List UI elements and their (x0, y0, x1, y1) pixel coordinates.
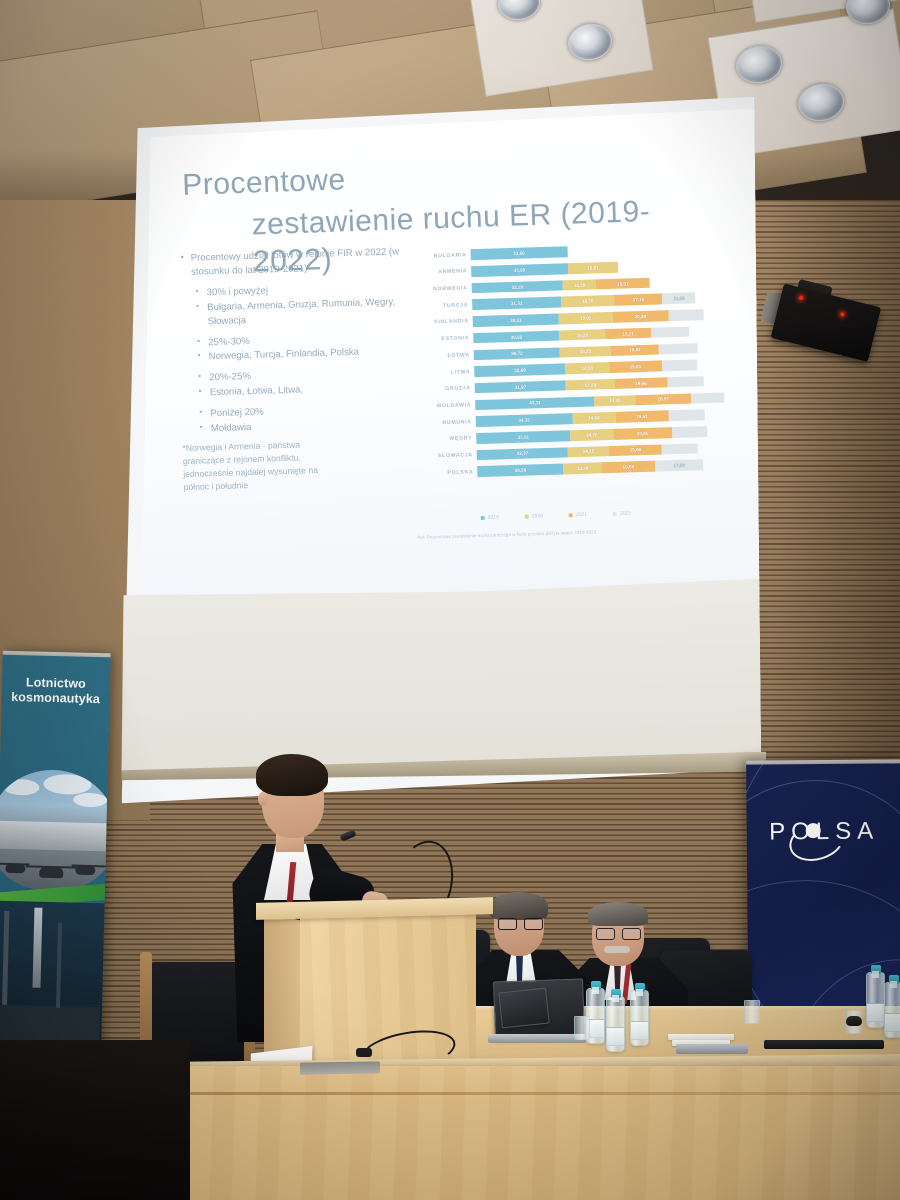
chart-bar-segment: 32,37 (477, 447, 569, 460)
chart-row-label: ESTONIA (415, 335, 473, 343)
chart-legend-swatch (569, 513, 573, 517)
drinking-glass (744, 1000, 760, 1024)
laptop-base (488, 1034, 586, 1043)
chart-row-label: POLSKA (419, 469, 477, 477)
chart-row-label: FINLANDIA (415, 319, 473, 327)
stacked-bar-chart: BUŁGARIA33,60ARMENIA33,5018,51NORWEGIA32… (412, 239, 733, 548)
chart-legend-label: 2021 (576, 512, 587, 518)
chart-bar-segment: 19,61 (609, 361, 663, 373)
chart-row-label: TURCJA (414, 302, 472, 310)
chart-row-label: BUŁGARIA (413, 252, 471, 260)
chart-bar-segment (651, 326, 689, 338)
chart-rows: BUŁGARIA33,60ARMENIA33,5018,51NORWEGIA32… (412, 239, 731, 482)
chart-legend-item: 2022 (613, 510, 631, 517)
chart-bar-segment: 19,66 (609, 444, 663, 456)
chart-bar-segment (659, 343, 697, 355)
chart-row-label: ARMENIA (413, 269, 471, 277)
chart-bar-segment: 20,57 (635, 393, 691, 405)
chart-bar-segment: 34,32 (476, 413, 573, 427)
chart-legend-swatch (613, 512, 617, 516)
chart-bar-segment: 17,60 (655, 460, 704, 472)
bullet-countries: Bułgaria, Armenia, Gruzja, Rumunia, Węgr… (196, 295, 406, 329)
banner-photo-airport (0, 768, 111, 891)
chart-bar-segment: 31,31 (472, 297, 561, 310)
presenter-ear (258, 792, 268, 806)
presenter-hair (256, 754, 328, 796)
chart-bar-segment (672, 426, 708, 438)
panelist-left-hair (490, 892, 548, 920)
chart-bar-segment (662, 443, 698, 455)
banner-photo-launchpad (0, 900, 111, 1053)
chart-bar-segment: 19,61 (615, 410, 669, 422)
panelist-right-hair (588, 902, 648, 926)
slide-bullet-list: Procentowy udział lotów w rejonie FIR w … (178, 245, 409, 437)
desk-cable-port (300, 1061, 380, 1074)
chart-legend-item: 2020 (525, 513, 543, 520)
water-bottle (606, 996, 625, 1052)
water-bottle (884, 982, 900, 1038)
chart-legend-label: 2020 (532, 513, 543, 519)
chart-bar-segment: 17,15 (614, 294, 663, 306)
chart-bar-segment: 43,11 (475, 396, 595, 410)
chart-bar-segment: 18,25 (560, 345, 611, 357)
chart-bar-segment: 18,91 (596, 278, 650, 290)
chart-bar-segment: 33,50 (471, 263, 568, 277)
chart-legend-item: 2019 (481, 514, 499, 521)
chart-bar-segment: 19,58 (602, 461, 656, 473)
chart-bar-segment: 30,58 (477, 464, 564, 477)
chart-bar-segment: 15,71 (605, 328, 651, 340)
chart-row-label: GRUZJA (417, 385, 475, 393)
chart-bar-segment: 20,81 (613, 427, 672, 439)
chart-bar-segment: 13,26 (563, 463, 601, 475)
chart-bar-segment: 30,72 (474, 347, 561, 360)
chart-row-label: RUMUNIA (418, 419, 476, 427)
water-bottle (866, 972, 885, 1028)
chart-bar-segment: 11,00 (662, 293, 695, 305)
chart-legend-swatch (525, 515, 529, 519)
panelist-right-moustache (604, 946, 630, 953)
chart-bar-segment: 30,59 (473, 330, 560, 343)
slide-footnote: *Norwegia i Armenia - państwa graniczące… (182, 437, 344, 493)
chart-bar-segment: 19,02 (559, 312, 613, 324)
laptop-base (676, 1044, 748, 1054)
chart-bar-segment: 18,76 (561, 295, 615, 307)
chart-bar-segment (668, 309, 704, 321)
chart-bar-segment: 14,06 (594, 395, 635, 407)
chart-bar-segment: 32,69 (474, 364, 566, 377)
chart-row-label: NORWEGIA (414, 285, 472, 293)
chart-caption: Ryt. Procentowe zestawienie ruchu lotnic… (417, 525, 727, 540)
chart-bar-segment: 18,51 (568, 262, 619, 274)
chart-bar-segment: 14,70 (570, 429, 613, 441)
chart-bar-segment: 20,38 (612, 310, 668, 322)
panelist-right-glasses-icon (596, 928, 640, 938)
chart-legend-item: 2021 (569, 512, 587, 519)
microphone-head (339, 829, 356, 841)
chart-bar-segment (668, 376, 704, 388)
chart-row-label: MOŁDAWIA (417, 402, 475, 410)
chart-legend-label: 2019 (488, 514, 499, 520)
chart-bar-segment: 31,97 (475, 380, 567, 393)
chart-bar-segment: 14,15 (568, 446, 609, 458)
chart-bar-segment: 10,28 (563, 279, 596, 291)
slide-content: Procentowe zestawienie ruchu ER (2019-20… (147, 107, 761, 595)
water-bottle (630, 990, 649, 1046)
chart-bar-segment: 16,82 (611, 344, 660, 356)
banner-left-title-line2: kosmonautyka (11, 690, 100, 706)
chart-bar-segment: 17,29 (566, 379, 615, 391)
chart-legend-label: 2022 (620, 510, 631, 516)
drinking-glass (574, 1016, 590, 1040)
chart-row-label: ŁOTWA (416, 352, 474, 360)
chart-bar-segment (669, 409, 705, 421)
panelist-left-glasses-icon (498, 918, 542, 928)
chart-bar-segment (691, 392, 724, 404)
projection-screen: Procentowe zestawienie ruchu ER (2019-20… (114, 97, 761, 804)
chart-bar-segment: 14,58 (565, 362, 608, 374)
foreground-floor (0, 1040, 190, 1200)
chart-legend-swatch (481, 516, 485, 520)
keyboard (764, 1040, 884, 1049)
mouse (846, 1016, 862, 1026)
chart-bar-segment: 33,51 (476, 430, 570, 443)
chart-row-label: SŁOWACJA (419, 452, 477, 460)
banner-left-title: Lotnictwo kosmonautyka (3, 675, 108, 708)
laptop-screen (498, 988, 550, 1029)
banner-left-title-line1: Lotnictwo (26, 675, 86, 690)
conference-photo: Procentowe zestawienie ruchu ER (2019-20… (0, 0, 900, 1200)
slide-title-line1: Procentowe (182, 163, 346, 202)
chart-bar-segment: 19,66 (614, 377, 668, 389)
chart-bar-segment: 14,58 (572, 412, 615, 424)
chart-bar-segment: 16,26 (559, 329, 605, 341)
chart-row-label: LITWA (416, 369, 474, 377)
chart-bar-segment: 32,20 (472, 280, 564, 293)
chart-bar-segment: 33,60 (471, 247, 568, 261)
chart-row-label: WĘGRY (418, 435, 476, 443)
bullet-lead: Procentowy udział lotów w rejonie FIR w … (178, 245, 404, 280)
chart-legend: 2019202020212022 (481, 507, 731, 521)
chart-bar-segment: 30,51 (473, 314, 560, 327)
chart-bar-segment (662, 360, 698, 372)
